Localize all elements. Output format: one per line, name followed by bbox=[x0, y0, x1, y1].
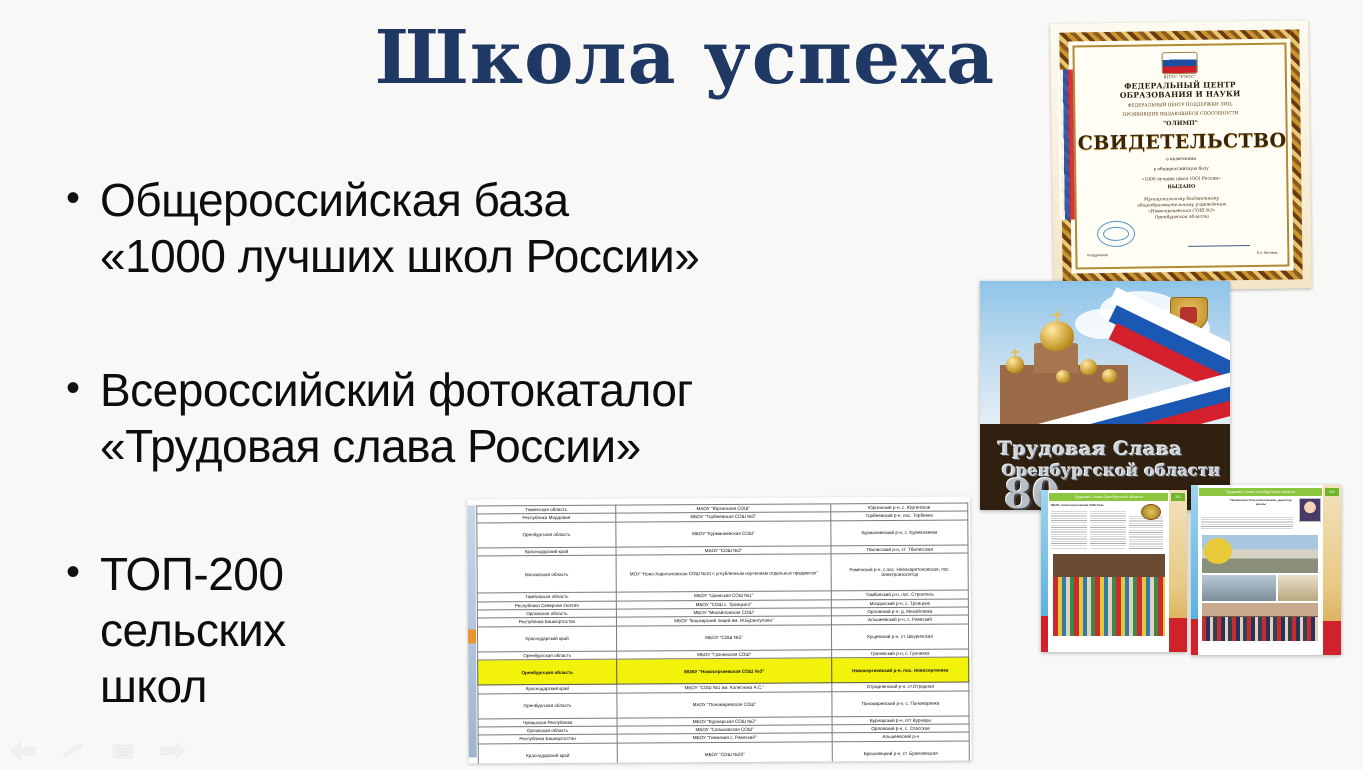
bullet-text: Общероссийская база «1000 лучших школ Ро… bbox=[100, 172, 699, 284]
bullet-line-1: Всероссийский фотокаталог bbox=[100, 364, 693, 416]
back-arrow-icon[interactable] bbox=[8, 740, 38, 762]
bullet-line-1: Общероссийская база bbox=[100, 174, 569, 226]
magazine-page-right: 103 Трудовая Слава Оренбургской области … bbox=[1191, 485, 1341, 655]
stamp-icon bbox=[1097, 221, 1135, 248]
photo-folk-ensemble bbox=[1053, 554, 1165, 636]
certificate-heading-2: ОБРАЗОВАНИЯ И НАУКИ bbox=[1077, 89, 1283, 101]
page-title: Школа успеха bbox=[330, 18, 1040, 98]
page-number-left: 102 bbox=[1171, 493, 1185, 501]
table-row: Оренбургская областьМАОУ "Пономаревская … bbox=[478, 691, 969, 719]
magazine-header-right-text: Трудовая Слава Оренбургской области bbox=[1199, 488, 1322, 496]
certificate-subtitle-1: ФЕДЕРАЛЬНЫЙ ЦЕНТР ПОДДЕРЖКИ ЛИЦ, bbox=[1077, 102, 1283, 110]
table-cell-school: МБОУ "СОШ №20" bbox=[617, 742, 832, 764]
bullet-line-2: «Трудовая слава России» bbox=[100, 418, 693, 474]
top-200-schools-table[interactable]: Тюменская областьМАОУ "Юргинская СОШ"Юрг… bbox=[467, 496, 972, 763]
magazine-article-title-right: Панфилова Ольга Николаевна, директор шко… bbox=[1225, 499, 1297, 506]
table-cell-region: Краснодарский край bbox=[477, 626, 616, 652]
catalog-caption-line-1: Трудовая Слава bbox=[998, 438, 1222, 460]
golden-dome-icon bbox=[1040, 321, 1074, 351]
table-cell-region: Оренбургская область bbox=[477, 522, 616, 548]
table-cell-location: Новосергиевский р-н, пос. Новосергиевка bbox=[832, 657, 969, 683]
table-cell-location: Кущевский р-н, ст. Шкуринская bbox=[831, 624, 968, 650]
list-item: • Общероссийская база «1000 лучших школ … bbox=[66, 172, 966, 284]
magazine-page-left: 102 Трудовая Слава Оренбургской области … bbox=[1041, 490, 1187, 652]
wheat-border-icon bbox=[1169, 490, 1187, 652]
bullet-text: ТОП-200 сельских школ bbox=[100, 546, 286, 714]
magazine-header-left: Трудовая Слава Оренбургской области bbox=[1049, 493, 1168, 501]
menu-icon[interactable] bbox=[108, 740, 138, 762]
photo-school-building bbox=[1202, 535, 1318, 573]
table-cell-school: МБОУ "СОШ №5" bbox=[616, 625, 831, 651]
table-cell-location: Брюховецкий р-н, ст. Брюховецкая bbox=[832, 741, 969, 764]
text-column bbox=[1129, 516, 1163, 549]
table-cell-location: Курманаевский р-н, с. Курманаевка bbox=[831, 520, 968, 546]
certificate-image: ВПЭС "РЭОС" ФЕДЕРАЛЬНЫЙ ЦЕНТР ОБРАЗОВАНИ… bbox=[1050, 20, 1312, 292]
pen-icon[interactable] bbox=[58, 740, 88, 762]
magazine-header-left-text: Трудовая Слава Оренбургской области bbox=[1049, 493, 1168, 501]
certificate-signature-area: Координатор Е.А. Ветлина bbox=[1087, 221, 1277, 258]
certificate-about-2: в общероссийскую базу bbox=[1078, 165, 1284, 174]
bullet-marker-icon: • bbox=[66, 172, 100, 224]
text-column bbox=[1051, 511, 1087, 549]
photo-classroom bbox=[1278, 575, 1318, 601]
page-side-bar-red bbox=[1041, 616, 1048, 652]
table-cell-school: МОУ "Ново-Харитоновская СОШ №10 с углубл… bbox=[616, 554, 831, 592]
certificate-title: СВИДЕТЕЛЬСТВО bbox=[1078, 129, 1284, 154]
bullet-line-2: «1000 лучших школ России» bbox=[100, 228, 699, 284]
bullet-marker-icon: • bbox=[66, 362, 100, 414]
table-row: Оренбургская областьМБОУ "Курманаевская … bbox=[477, 520, 968, 548]
table-cell-region: Краснодарский край bbox=[478, 743, 617, 764]
golden-dome-icon bbox=[1006, 356, 1024, 373]
emblem-icon bbox=[1141, 504, 1161, 520]
golden-dome-icon bbox=[1102, 369, 1117, 383]
presentation-slide: Школа успеха • Общероссийская база «1000… bbox=[0, 0, 1363, 770]
certificate-text-block: ВПЭС "РЭОС" ФЕДЕРАЛЬНЫЙ ЦЕНТР ОБРАЗОВАНИ… bbox=[1077, 73, 1285, 223]
table-row: Краснодарский крайМБОУ "СОШ №20"Брюховец… bbox=[478, 741, 969, 764]
certificate-ribbon-icon bbox=[1058, 70, 1075, 220]
magazine-header-right: Трудовая Слава Оренбургской области bbox=[1199, 488, 1322, 496]
bullet-text: Всероссийский фотокаталог «Трудовая слав… bbox=[100, 362, 693, 474]
table-cell-region: Оренбургская область bbox=[478, 659, 617, 685]
forward-arrow-icon[interactable] bbox=[158, 740, 188, 762]
certificate-sign-right: Е.А. Ветлина bbox=[1257, 251, 1278, 255]
signature-icon bbox=[1188, 225, 1257, 247]
slideshow-navigation[interactable] bbox=[8, 740, 188, 762]
table-cell-school: МОБУ "Новосергиевская СОШ №3" bbox=[617, 658, 832, 684]
list-item: • Всероссийский фотокаталог «Трудовая сл… bbox=[66, 362, 966, 474]
golden-dome-icon bbox=[1056, 370, 1070, 383]
page-side-bar-red bbox=[1191, 619, 1198, 655]
photo-line-up bbox=[1202, 575, 1276, 601]
page-number-right: 103 bbox=[1325, 488, 1339, 496]
schools-table: Тюменская областьМАОУ "Юргинская СОШ"Юрг… bbox=[476, 502, 970, 763]
cross-icon bbox=[1014, 349, 1016, 358]
schools-table-body: Тюменская областьМАОУ "Юргинская СОШ"Юрг… bbox=[477, 503, 970, 764]
table-row: Оренбургская областьМОБУ "Новосергиевска… bbox=[478, 657, 969, 685]
table-cell-school: МБОУ "Курманаевская СОШ" bbox=[616, 521, 831, 547]
table-cell-region: Московская область bbox=[477, 555, 616, 593]
table-cell-location: Раменский р-н, с.пос. Новохаритоновское,… bbox=[831, 553, 968, 591]
text-column bbox=[1090, 511, 1126, 549]
portrait-photo bbox=[1299, 498, 1321, 522]
bullet-line-1: ТОП-200 bbox=[100, 548, 283, 600]
cross-icon bbox=[1056, 311, 1058, 323]
photo-students-march bbox=[1202, 603, 1318, 641]
table-row: Краснодарский крайМБОУ "СОШ №5"Кущевский… bbox=[477, 624, 968, 652]
table-cell-location: Пономаревский р-н, с. Пономаревка bbox=[832, 691, 969, 717]
certificate-about-1: о включении bbox=[1078, 155, 1284, 164]
table-row-marker bbox=[468, 629, 476, 643]
autumn-tree-icon bbox=[1204, 538, 1232, 564]
golden-dome-icon bbox=[1080, 359, 1097, 375]
bullet-marker-icon: • bbox=[66, 546, 100, 598]
table-cell-school: МАОУ "Пономаревская СОШ" bbox=[617, 691, 832, 717]
certificate-sign-left: Координатор bbox=[1087, 253, 1107, 257]
russian-flag-icon bbox=[1162, 52, 1198, 75]
photo-catalog-cover-image: Трудовая Слава Оренбургской области 80 bbox=[980, 281, 1230, 510]
table-row: Московская областьМОУ "Ново-Харитоновска… bbox=[477, 553, 968, 593]
table-cell-region: Оренбургская область bbox=[478, 693, 617, 719]
wheat-border-icon bbox=[1323, 485, 1341, 655]
bullet-line-3: школ bbox=[100, 658, 286, 714]
certificate-program-name: "ОЛИМП" bbox=[1078, 118, 1284, 128]
text-column bbox=[1201, 517, 1293, 531]
bullet-line-2: сельских bbox=[100, 602, 286, 658]
